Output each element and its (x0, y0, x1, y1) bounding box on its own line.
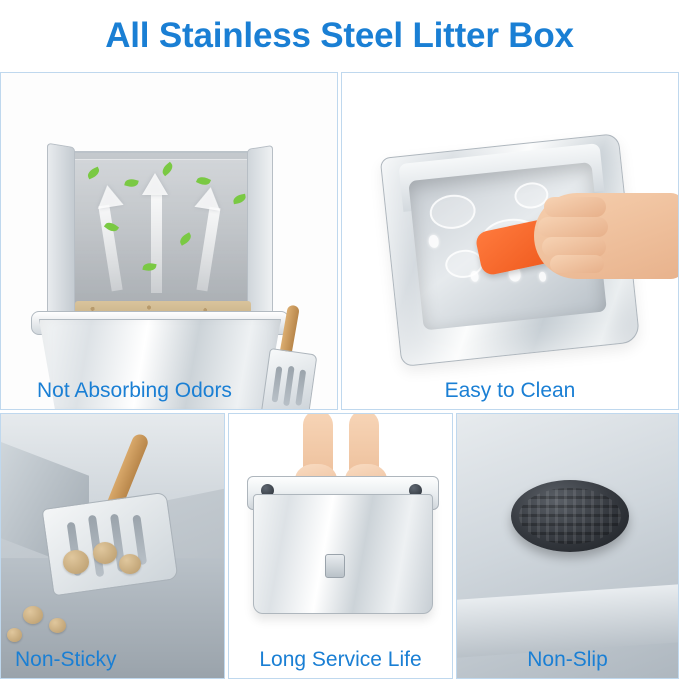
litter-clump (49, 618, 66, 633)
panel-easy-to-clean: Easy to Clean (341, 72, 679, 410)
finger (550, 255, 604, 273)
litter-clump (93, 542, 117, 564)
panel-caption: Not Absorbing Odors (1, 379, 338, 403)
litter-clump (63, 550, 89, 574)
water-splash (428, 192, 477, 231)
water-droplet (470, 270, 479, 282)
hand (534, 193, 679, 279)
box-latch (325, 554, 345, 578)
litter-clump (119, 554, 141, 574)
odor-arrow-head (194, 185, 223, 211)
water-droplet (538, 271, 546, 282)
odor-arrow-stem (151, 195, 162, 293)
panel-caption: Long Service Life (229, 648, 452, 672)
panel-caption: Easy to Clean (342, 379, 678, 403)
panel-long-service-life: Long Service Life (228, 413, 453, 679)
cleaning-illustration (342, 73, 678, 409)
page-title: All Stainless Steel Litter Box (105, 16, 574, 56)
standing-on-box-illustration (229, 414, 452, 678)
box-bottom-edge (457, 584, 679, 658)
panel-non-sticky: Non-Sticky (0, 413, 225, 679)
panel-caption: Non-Slip (457, 648, 678, 672)
finger (538, 217, 608, 237)
panel-caption: Non-Sticky (1, 648, 225, 672)
litter-clump (7, 628, 22, 642)
odor-arrow-head (94, 183, 123, 209)
non-slip-rubber-pad (511, 480, 629, 552)
panel-non-slip: Non-Slip (456, 413, 679, 679)
finger (542, 237, 606, 257)
litter-box-odor-illustration (1, 73, 337, 409)
odor-arrow-head (142, 173, 168, 195)
water-droplet (428, 234, 439, 248)
scooping-illustration (1, 414, 224, 678)
non-slip-pad-illustration (457, 414, 678, 678)
poster-title-bar: All Stainless Steel Litter Box (0, 0, 679, 72)
litter-clump (23, 606, 43, 624)
finger (544, 197, 606, 217)
panel-not-absorbing-odors: Not Absorbing Odors (0, 72, 338, 410)
product-feature-poster: All Stainless Steel Litter Box (0, 0, 679, 679)
